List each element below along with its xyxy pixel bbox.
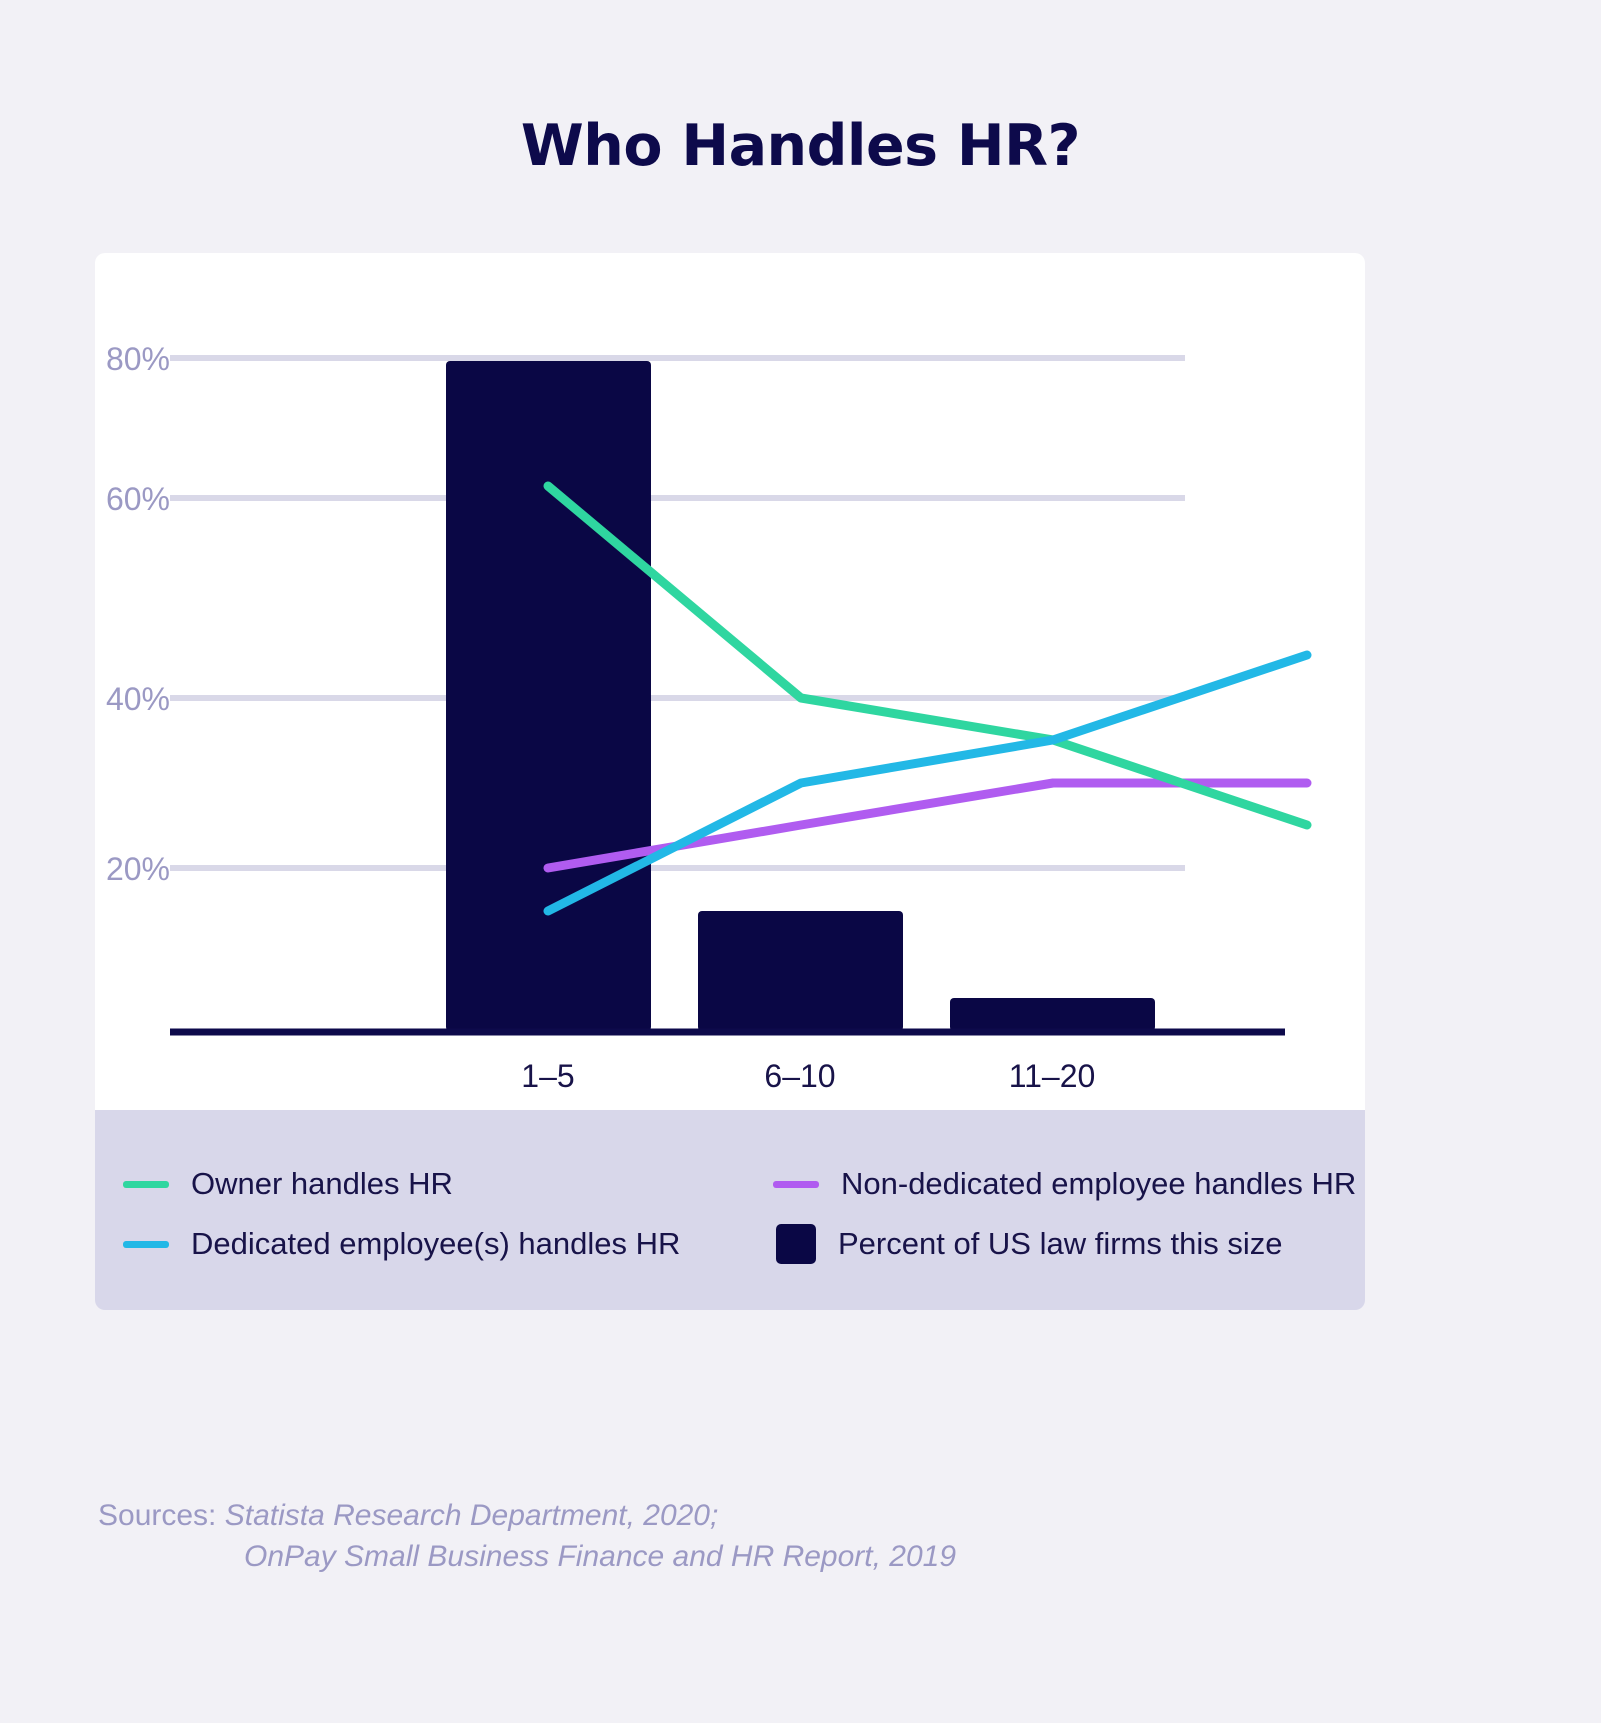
legend-label-dedicated: Dedicated employee(s) handles HR: [191, 1226, 680, 1262]
ytick-40: 40%: [60, 681, 170, 718]
bar-11-20: [950, 998, 1155, 1031]
legend-line-swatch-cyan: [123, 1241, 169, 1248]
sources-ref-2: OnPay Small Business Finance and HR Repo…: [244, 1540, 956, 1573]
chart-card: 80% 60% 40% 20% 1–5 6–10 11–20: [95, 253, 1365, 1110]
chart-svg: [95, 253, 1365, 1110]
bar-1-5: [446, 361, 651, 1031]
line-owner: [548, 486, 1307, 825]
sources-line-1: Sources: Statista Research Department, 2…: [98, 1496, 956, 1537]
ytick-20: 20%: [60, 851, 170, 888]
legend-item-non-dedicated[interactable]: Non-dedicated employee handles HR: [773, 1154, 1393, 1214]
ytick-80: 80%: [60, 341, 170, 378]
legend-label-non-dedicated: Non-dedicated employee handles HR: [841, 1166, 1356, 1202]
xtick-1-5: 1–5: [448, 1058, 648, 1095]
legend-item-owner[interactable]: Owner handles HR: [123, 1154, 773, 1214]
sources-block: Sources: Statista Research Department, 2…: [98, 1496, 956, 1577]
xtick-11-20: 11–20: [952, 1058, 1152, 1095]
legend-label-bars: Percent of US law firms this size: [838, 1226, 1282, 1262]
legend-item-bars[interactable]: Percent of US law firms this size: [773, 1214, 1393, 1274]
legend-line-swatch-purple: [773, 1181, 819, 1188]
xtick-6-10: 6–10: [700, 1058, 900, 1095]
sources-label: Sources:: [98, 1499, 216, 1532]
legend-label-owner: Owner handles HR: [191, 1166, 453, 1202]
legend-item-dedicated[interactable]: Dedicated employee(s) handles HR: [123, 1214, 773, 1274]
infographic-page: Who Handles HR?: [0, 0, 1601, 1723]
legend-line-swatch-green: [123, 1181, 169, 1188]
legend-box-swatch-navy: [776, 1224, 816, 1264]
ytick-60: 60%: [60, 481, 170, 518]
chart-legend: Owner handles HR Non-dedicated employee …: [95, 1110, 1365, 1310]
sources-line-2: OnPay Small Business Finance and HR Repo…: [98, 1537, 956, 1578]
gridlines: [170, 358, 1185, 868]
bar-6-10: [698, 911, 903, 1031]
sources-ref-1: Statista Research Department, 2020;: [225, 1499, 719, 1532]
plot-area: [95, 253, 1365, 1110]
page-title: Who Handles HR?: [0, 113, 1601, 179]
